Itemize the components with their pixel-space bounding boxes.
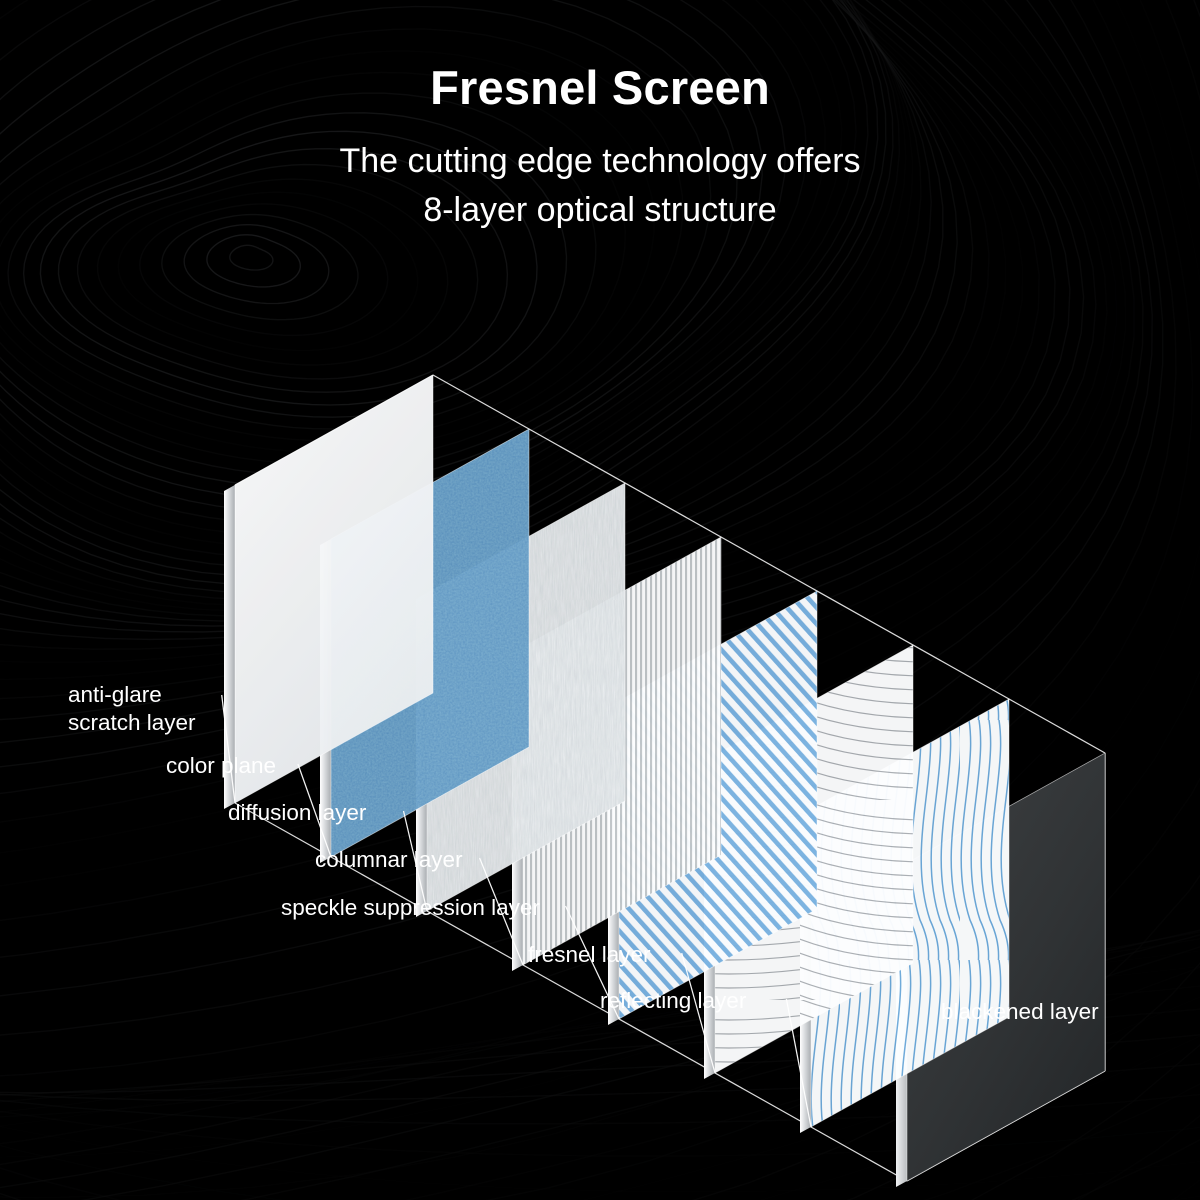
layer-label-4: columnar layer — [315, 846, 463, 874]
layer-label-8: blackened layer — [941, 998, 1099, 1026]
layer-label-line: diffusion layer — [228, 799, 366, 827]
layer-label-1: anti-glarescratch layer — [68, 681, 196, 738]
layer-label-line: scratch layer — [68, 709, 196, 737]
layer-label-line: speckle suppression layer — [281, 894, 540, 922]
layer-label-line: fresnel layer — [528, 941, 651, 969]
layer-label-line: blackened layer — [941, 998, 1099, 1026]
layer-label-2: color plane — [166, 752, 276, 780]
layer-label-5: speckle suppression layer — [281, 894, 540, 922]
layer-label-line: anti-glare — [68, 681, 196, 709]
layer-label-6: fresnel layer — [528, 941, 651, 969]
layer-label-line: columnar layer — [315, 846, 463, 874]
poster-canvas: Fresnel Screen The cutting edge technolo… — [0, 0, 1200, 1200]
layer-label-3: diffusion layer — [228, 799, 366, 827]
layer-panels — [224, 375, 1105, 1187]
layer-label-line: reflecting layer — [600, 987, 746, 1015]
layer-label-7: reflecting layer — [600, 987, 746, 1015]
layer-label-line: color plane — [166, 752, 276, 780]
